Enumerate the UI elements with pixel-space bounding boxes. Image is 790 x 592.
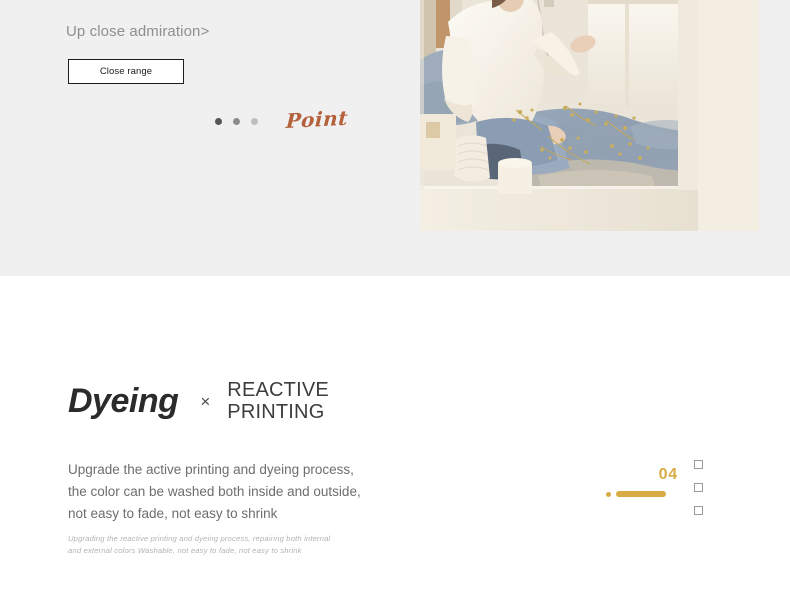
section-title-row: Dyeing × REACTIVE PRINTING	[68, 379, 329, 424]
section-fine-print: Upgrading the reactive printing and dyei…	[68, 533, 330, 556]
progress-start-dot	[606, 492, 611, 497]
section-title-primary: Dyeing	[68, 384, 178, 418]
dyeing-feature-section: Dyeing × REACTIVE PRINTING Upgrade the a…	[0, 276, 790, 592]
section-title-secondary: REACTIVE PRINTING	[227, 379, 329, 424]
bedroom-photo	[420, 0, 759, 231]
close-range-button-label: Close range	[100, 66, 152, 77]
section-description: Upgrade the active printing and dyeing p…	[68, 459, 361, 525]
square-marker-3[interactable]	[694, 506, 703, 515]
square-marker-2[interactable]	[694, 483, 703, 492]
section-title-secondary-line1: REACTIVE	[227, 379, 329, 401]
cross-separator-icon: ×	[200, 393, 210, 410]
top-promo-panel: Up close admiration> Close range Point	[0, 0, 790, 276]
progress-track	[606, 491, 666, 497]
progress-bar-fill	[616, 491, 666, 497]
carousel-dots[interactable]	[215, 118, 258, 125]
carousel-dot-3[interactable]	[251, 118, 258, 125]
point-script-label: Point	[285, 106, 348, 133]
page-title: Up close admiration>	[66, 23, 209, 40]
carousel-dot-2[interactable]	[233, 118, 240, 125]
square-markers[interactable]	[694, 460, 703, 515]
square-marker-1[interactable]	[694, 460, 703, 469]
close-range-button[interactable]: Close range	[68, 59, 184, 84]
carousel-dot-1[interactable]	[215, 118, 222, 125]
step-number-label: 04	[659, 467, 678, 483]
step-progress-indicator: 04	[606, 467, 678, 501]
section-title-secondary-line2: PRINTING	[227, 401, 324, 423]
